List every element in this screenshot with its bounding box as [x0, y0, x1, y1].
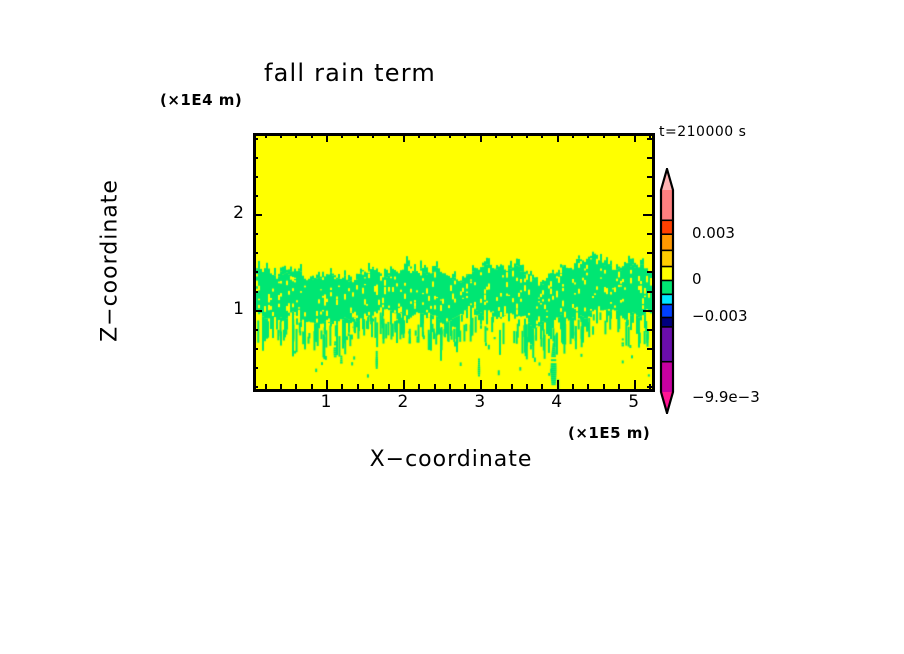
colorbar	[659, 168, 675, 414]
x-tick-top	[434, 133, 436, 138]
x-tick-top	[449, 133, 451, 138]
x-tick-bottom	[634, 380, 636, 389]
x-tick-bottom	[341, 384, 343, 389]
y-tick-right	[647, 386, 652, 388]
y-tick-right	[643, 214, 652, 216]
y-tick-right	[647, 348, 652, 350]
y-tick-left	[253, 157, 258, 159]
x-tick-bottom	[403, 380, 405, 389]
x-tick-bottom	[326, 380, 328, 389]
x-tick-top	[557, 133, 559, 142]
x-tick-top	[326, 133, 328, 142]
colorbar-tick-label: −0.003	[692, 307, 748, 325]
y-tick-right	[647, 195, 652, 197]
colorbar-tick-label: 0.003	[692, 224, 735, 242]
y-axis-title: Z−coordinate	[98, 131, 123, 391]
y-tick-left	[253, 271, 258, 273]
x-tick-bottom	[295, 384, 297, 389]
x-tick-top	[357, 133, 359, 138]
y-tick-right	[647, 329, 652, 331]
x-tick-top	[480, 133, 482, 142]
x-tick-bottom	[357, 384, 359, 389]
x-tick-top	[587, 133, 589, 138]
x-tick-bottom	[388, 384, 390, 389]
x-tick-top	[572, 133, 574, 138]
x-tick-top	[495, 133, 497, 138]
y-tick-label: 2	[224, 203, 244, 223]
y-tick-left	[253, 367, 258, 369]
y-tick-right	[647, 157, 652, 159]
x-tick-bottom	[587, 384, 589, 389]
x-tick-top	[464, 133, 466, 138]
page-title: fall rain term	[0, 59, 700, 87]
x-tick-top	[280, 133, 282, 138]
y-axis-unit-label: (×1E4 m)	[160, 91, 242, 109]
x-tick-bottom	[265, 384, 267, 389]
x-tick-bottom	[495, 384, 497, 389]
x-tick-bottom	[449, 384, 451, 389]
x-tick-top	[295, 133, 297, 138]
x-tick-top	[388, 133, 390, 138]
x-tick-bottom	[418, 384, 420, 389]
x-axis-unit-label: (×1E5 m)	[568, 424, 650, 442]
y-tick-left	[253, 386, 258, 388]
y-tick-right	[647, 367, 652, 369]
x-tick-bottom	[557, 380, 559, 389]
x-tick-label: 4	[542, 392, 572, 412]
x-axis-title: X−coordinate	[253, 447, 649, 472]
x-tick-bottom	[572, 384, 574, 389]
x-tick-top	[265, 133, 267, 138]
y-tick-right	[647, 176, 652, 178]
x-tick-top	[618, 133, 620, 138]
x-tick-bottom	[603, 384, 605, 389]
colorbar-tick-label: 0	[692, 270, 702, 288]
x-tick-top	[634, 133, 636, 142]
x-tick-top	[403, 133, 405, 142]
x-tick-bottom	[280, 384, 282, 389]
x-tick-top	[418, 133, 420, 138]
y-tick-left	[253, 233, 258, 235]
x-tick-bottom	[434, 384, 436, 389]
x-tick-top	[541, 133, 543, 138]
x-tick-top	[372, 133, 374, 138]
x-tick-top	[603, 133, 605, 138]
x-tick-bottom	[511, 384, 513, 389]
y-tick-left	[253, 138, 258, 140]
x-tick-label: 5	[619, 392, 649, 412]
y-tick-right	[647, 271, 652, 273]
y-tick-right	[647, 138, 652, 140]
x-tick-top	[341, 133, 343, 138]
timestamp-annotation: t=210000 s	[659, 124, 746, 140]
y-tick-left	[253, 252, 258, 254]
x-tick-bottom	[311, 384, 313, 389]
x-tick-top	[511, 133, 513, 138]
y-tick-right	[647, 233, 652, 235]
y-tick-left	[253, 329, 258, 331]
y-tick-label: 1	[224, 299, 244, 319]
x-tick-top	[526, 133, 528, 138]
x-tick-label: 2	[388, 392, 418, 412]
x-tick-bottom	[480, 380, 482, 389]
y-tick-left	[253, 214, 262, 216]
y-tick-right	[647, 252, 652, 254]
x-tick-bottom	[526, 384, 528, 389]
x-tick-top	[311, 133, 313, 138]
x-tick-bottom	[541, 384, 543, 389]
x-tick-bottom	[464, 384, 466, 389]
figure-canvas: fall rain term (×1E4 m) (×1E5 m) t=21000…	[0, 0, 904, 654]
y-tick-left	[253, 291, 258, 293]
x-tick-bottom	[618, 384, 620, 389]
y-tick-left	[253, 348, 258, 350]
y-tick-right	[643, 310, 652, 312]
x-tick-label: 3	[465, 392, 495, 412]
colorbar-tick-label: −9.9e−3	[692, 388, 760, 406]
y-tick-left	[253, 176, 258, 178]
x-tick-label: 1	[311, 392, 341, 412]
colorbar-gradient	[659, 168, 675, 414]
y-tick-left	[253, 195, 258, 197]
y-tick-left	[253, 310, 262, 312]
heatmap-field	[256, 136, 652, 389]
y-tick-right	[647, 291, 652, 293]
plot-area	[253, 133, 655, 392]
x-tick-bottom	[372, 384, 374, 389]
